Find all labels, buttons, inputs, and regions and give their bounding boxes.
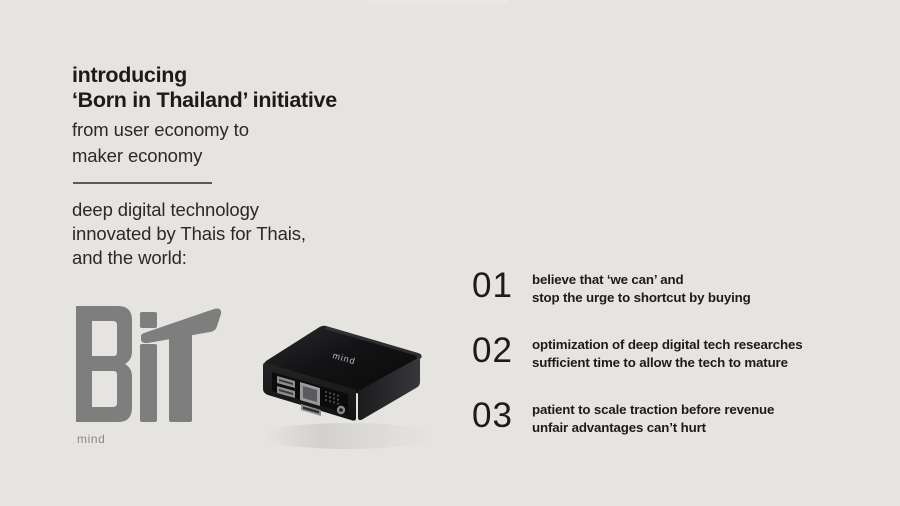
lead-line-1: deep digital technology xyxy=(72,198,306,222)
lead-line-2: innovated by Thais for Thais, xyxy=(72,222,306,246)
list-item-number: 02 xyxy=(472,331,513,371)
list-item-number: 03 xyxy=(472,396,513,436)
numbered-list: 01 believe that ‘we can’ and stop the ur… xyxy=(472,266,872,461)
list-item-text: optimization of deep digital tech resear… xyxy=(532,336,802,371)
subtitle: from user economy to maker economy xyxy=(72,117,249,169)
slide-canvas: introducing ‘Born in Thailand’ initiativ… xyxy=(0,0,900,506)
page-title-line-1: introducing xyxy=(72,63,337,88)
top-edge-band xyxy=(368,0,508,5)
lead-line-3: and the world: xyxy=(72,246,306,270)
subtitle-line-2: maker economy xyxy=(72,143,249,169)
list-item-line-2: stop the urge to shortcut by buying xyxy=(532,289,751,307)
list-item-line-1: patient to scale traction before revenue xyxy=(532,401,774,419)
bit-logo: mind xyxy=(74,300,224,455)
list-item: 01 believe that ‘we can’ and stop the ur… xyxy=(472,266,872,331)
list-item-line-1: optimization of deep digital tech resear… xyxy=(532,336,802,354)
bit-wordmark-icon xyxy=(74,300,224,430)
device-photo: mind xyxy=(248,318,448,458)
page-title-line-2: ‘Born in Thailand’ initiative xyxy=(72,88,337,113)
bit-logo-subtext: mind xyxy=(77,432,105,446)
list-item-line-2: unfair advantages can’t hurt xyxy=(532,419,774,437)
list-item-text: believe that ‘we can’ and stop the urge … xyxy=(532,271,751,306)
list-item-line-1: believe that ‘we can’ and xyxy=(532,271,751,289)
page-title: introducing ‘Born in Thailand’ initiativ… xyxy=(72,63,337,112)
mini-pc-illustration: mind xyxy=(248,318,448,458)
lead-paragraph: deep digital technology innovated by Tha… xyxy=(72,198,306,270)
list-item-text: patient to scale traction before revenue… xyxy=(532,401,774,436)
list-item-line-2: sufficient time to allow the tech to mat… xyxy=(532,354,802,372)
list-item-number: 01 xyxy=(472,266,513,306)
power-jack-icon xyxy=(337,406,345,414)
subtitle-line-1: from user economy to xyxy=(72,117,249,143)
divider xyxy=(73,182,212,184)
list-item: 02 optimization of deep digital tech res… xyxy=(472,331,872,396)
list-item: 03 patient to scale traction before reve… xyxy=(472,396,872,461)
